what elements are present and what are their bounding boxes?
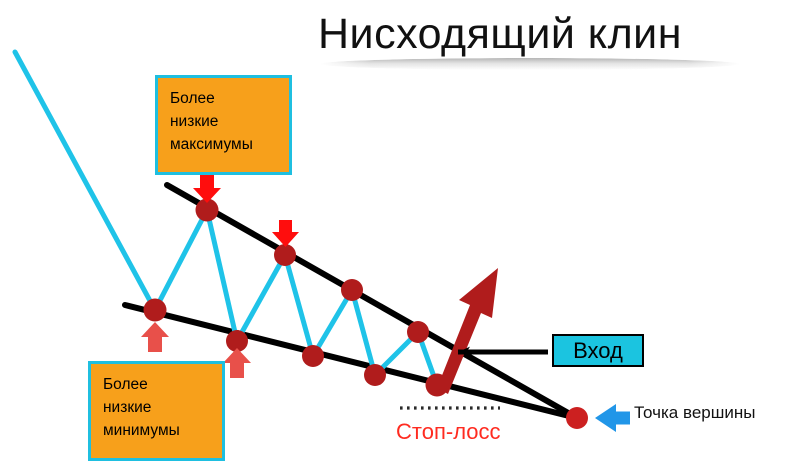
breakout-arrow [437,268,498,394]
entry-label[interactable]: Вход [552,334,644,367]
apex-pointer-arrow [595,404,630,432]
apex-point-label: Точка вершины [634,403,755,423]
callout-lower-lows[interactable]: Более низкие минимумы [88,361,225,461]
callout-lower-lows-line-3: минимумы [103,419,212,442]
callout-lower-highs-line-1: Более [170,87,279,110]
pivot-high-dot [274,244,296,266]
up-arrow-icon [141,322,169,352]
diagram-canvas: Нисходящий клин [0,0,789,475]
up-arrow-icon [223,348,251,378]
pivot-high-dot [341,279,363,301]
down-arrow-icon [272,220,299,247]
stop-loss-label: Стоп-лосс [396,419,501,445]
down-arrow-icon [193,174,221,203]
entry-label-text: Вход [573,338,623,364]
pivot-low-dot [302,345,324,367]
callout-lower-lows-line-1: Более [103,373,212,396]
callout-lower-highs[interactable]: Более низкие максимумы [155,75,292,175]
apex-point-dot [566,407,588,429]
pivot-low-dot [144,299,167,322]
callout-lower-highs-line-2: низкие [170,110,279,133]
pivot-low-dot [364,364,386,386]
callout-lower-highs-line-3: максимумы [170,133,279,156]
pivot-high-dot [407,321,429,343]
callout-lower-lows-line-2: низкие [103,396,212,419]
